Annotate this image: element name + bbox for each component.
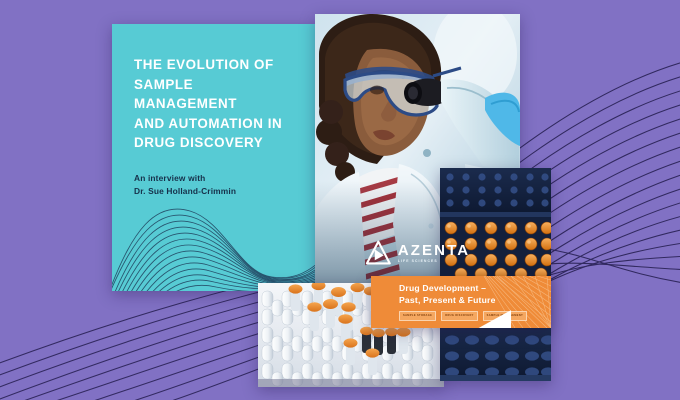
promo-chip[interactable]: DRUG DISCOVERY xyxy=(441,311,477,321)
azenta-triangle-icon xyxy=(365,240,391,266)
brand-name: AZENTA xyxy=(398,243,470,258)
promo-panel[interactable]: Drug Development – Past, Present & Futur… xyxy=(371,276,551,328)
vial-tray-card[interactable] xyxy=(440,168,551,381)
byline-line-2: Dr. Sue Holland-Crimmin xyxy=(134,185,297,198)
title-card-text: THE EVOLUTION OF SAMPLE MANAGEMENT AND A… xyxy=(112,24,315,197)
promo-headline: Drug Development – Past, Present & Futur… xyxy=(399,282,551,306)
azenta-wordmark: AZENTA LIFE SCIENCES xyxy=(398,243,470,263)
promo-chip[interactable]: SAMPLE STORAGE xyxy=(399,311,436,321)
promo-chip-row: SAMPLE STORAGE DRUG DISCOVERY SAMPLE MAN… xyxy=(399,311,551,321)
azenta-logo: AZENTA LIFE SCIENCES xyxy=(365,240,470,266)
byline: An interview with Dr. Sue Holland-Crimmi… xyxy=(134,172,297,198)
title-card[interactable]: THE EVOLUTION OF SAMPLE MANAGEMENT AND A… xyxy=(112,24,315,291)
collateral-collage: THE EVOLUTION OF SAMPLE MANAGEMENT AND A… xyxy=(0,0,680,400)
byline-line-1: An interview with xyxy=(134,172,297,185)
page-title: THE EVOLUTION OF SAMPLE MANAGEMENT AND A… xyxy=(134,55,297,153)
brand-tagline: LIFE SCIENCES xyxy=(398,260,470,263)
promo-content: Drug Development – Past, Present & Futur… xyxy=(371,276,551,321)
vial-trays-image xyxy=(440,168,551,381)
